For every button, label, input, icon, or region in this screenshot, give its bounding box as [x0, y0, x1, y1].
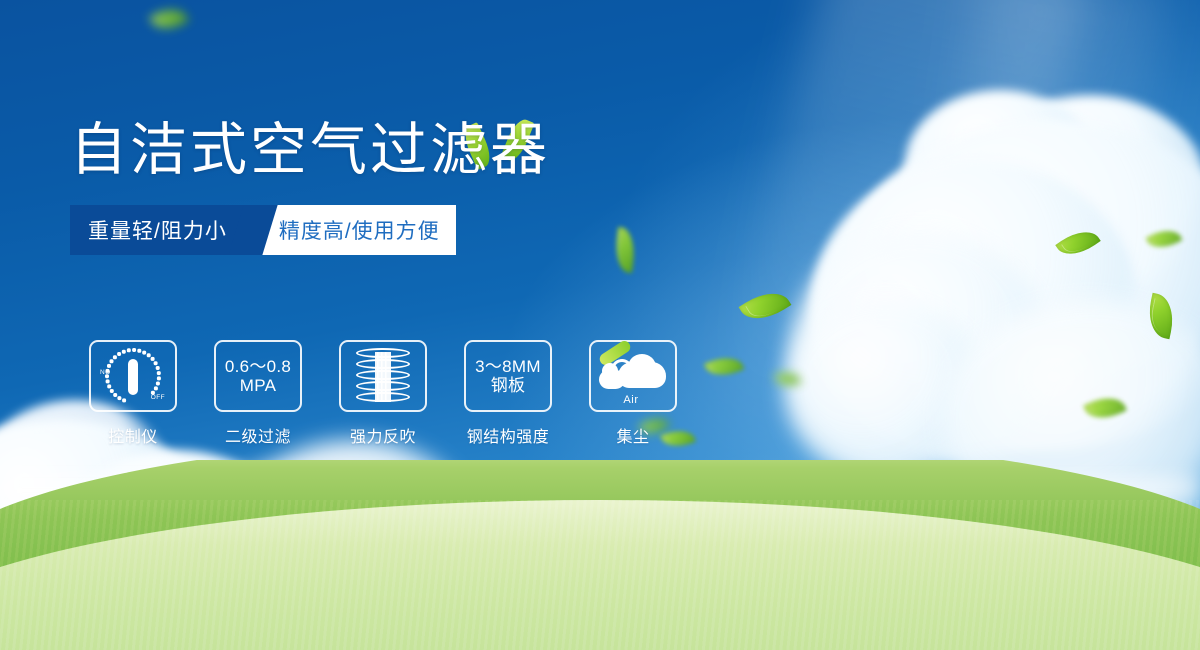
dial-dot [157, 371, 160, 374]
feature-icon-box: 0.6〜0.8 MPA [214, 340, 302, 412]
dial-dot [107, 364, 110, 367]
falling-leaf-icon [149, 1, 189, 36]
steel-plate-icon: 3〜8MM 钢板 [475, 357, 541, 395]
falling-leaf-icon [739, 283, 792, 329]
dial-dot [106, 380, 109, 383]
tagline-secondary: 精度高/使用方便 [247, 205, 456, 255]
cloud-puff [970, 95, 1200, 295]
dial-dot [122, 350, 125, 353]
falling-leaf-icon [1083, 390, 1127, 426]
feature-item-backblow[interactable]: 强力反吹 [333, 340, 433, 447]
dial-dot [156, 382, 159, 385]
feature-icon-box: Air [589, 340, 677, 412]
product-banner: 自洁式空气过滤器 重量轻/阻力小 精度高/使用方便 NO OFF 控制仪 0.6… [0, 0, 1200, 650]
feature-item-steel[interactable]: 3〜8MM 钢板 钢结构强度 [458, 340, 558, 447]
dial-dot [132, 348, 135, 351]
air-label: Air [598, 394, 664, 406]
feature-label: 控制仪 [108, 423, 158, 447]
grass-field [0, 460, 1200, 650]
dial-dot [143, 351, 146, 354]
control-dial-icon: NO OFF [102, 347, 164, 405]
cloud-puff [840, 120, 1200, 450]
dial-label-off: OFF [151, 394, 165, 401]
cloud-puff [905, 90, 1095, 240]
hill-front [0, 500, 1200, 650]
dial-dot [110, 389, 113, 392]
feature-label: 钢结构强度 [467, 423, 550, 447]
dial-dot [151, 357, 154, 360]
tagline-bar: 重量轻/阻力小 精度高/使用方便 [70, 205, 462, 255]
cartridge-ring [356, 392, 410, 402]
falling-leaf-icon [1146, 224, 1183, 254]
dial-needle [128, 359, 138, 395]
tagline-primary: 重量轻/阻力小 [70, 205, 253, 255]
feature-label: 强力反吹 [350, 423, 416, 447]
dial-dot [110, 360, 113, 363]
feature-item-pressure[interactable]: 0.6〜0.8 MPA 二级过滤 [208, 340, 308, 447]
cartridge-ring [356, 348, 410, 358]
dial-dot [147, 354, 150, 357]
cartridge-ring [356, 359, 410, 369]
cartridge-ring [356, 370, 410, 380]
cloud-puff [785, 300, 985, 480]
pressure-value-icon: 0.6〜0.8 MPA [225, 357, 291, 395]
feature-icon-box: 3〜8MM 钢板 [464, 340, 552, 412]
steel-material: 钢板 [475, 376, 541, 395]
feature-label: 集尘 [616, 423, 649, 447]
falling-leaf-icon [704, 351, 744, 381]
dial-dot [113, 356, 116, 359]
dial-dot [117, 352, 120, 355]
cloud-big [618, 362, 666, 388]
dial-dot [156, 366, 159, 369]
feature-item-dust[interactable]: Air 集尘 [583, 340, 683, 447]
dial-dot [127, 349, 130, 352]
dial-dot [122, 399, 125, 402]
cloud-puff [790, 230, 1050, 480]
pressure-unit: MPA [225, 376, 291, 395]
dial-dot [114, 393, 117, 396]
pressure-range: 0.6〜0.8 [225, 357, 291, 376]
feature-icon-box: NO OFF [89, 340, 177, 412]
headline-block: 自洁式空气过滤器 重量轻/阻力小 精度高/使用方便 [70, 120, 710, 255]
falling-leaf-icon [1055, 223, 1100, 264]
dial-dot [157, 377, 160, 380]
dial-dot [118, 396, 121, 399]
dial-dot [154, 387, 157, 390]
falling-leaf-icon [774, 370, 801, 389]
feature-label: 二级过滤 [225, 423, 291, 447]
dial-dot [108, 385, 111, 388]
steel-thickness: 3〜8MM [475, 357, 541, 376]
falling-leaf-icon [1144, 293, 1178, 339]
feature-list: NO OFF 控制仪 0.6〜0.8 MPA 二级过滤 [83, 340, 683, 447]
feature-item-control[interactable]: NO OFF 控制仪 [83, 340, 183, 447]
grass-texture [0, 500, 1200, 650]
dial-label-no: NO [100, 369, 111, 376]
air-cloud-icon: Air [598, 348, 668, 404]
feature-icon-box [339, 340, 427, 412]
dial-dot [138, 349, 141, 352]
filter-cartridge-icon [356, 348, 410, 404]
page-title: 自洁式空气过滤器 [70, 120, 710, 180]
cartridge-ring [356, 381, 410, 391]
dial-dot [154, 362, 157, 365]
